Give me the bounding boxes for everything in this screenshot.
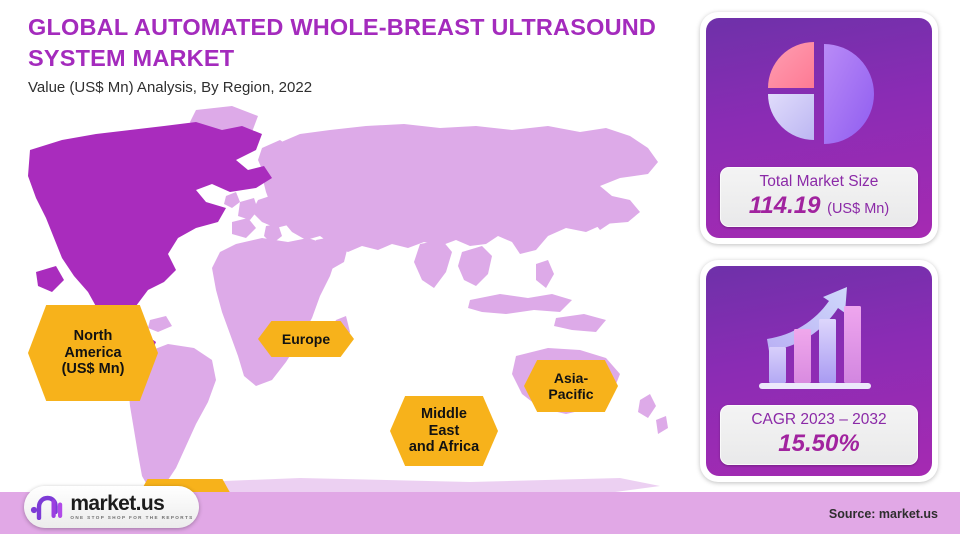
stat-value: 114.19 (US$ Mn) bbox=[724, 192, 915, 220]
region-badge-europe[interactable]: Europe bbox=[258, 321, 354, 357]
stat-card-body: Total Market Size 114.19 (US$ Mn) bbox=[706, 18, 932, 238]
stat-card-market-size: Total Market Size 114.19 (US$ Mn) bbox=[700, 12, 938, 244]
source-label: Source: market.us bbox=[829, 507, 938, 521]
world-map-svg bbox=[0, 104, 690, 494]
region-badge-label: Europe bbox=[282, 331, 330, 347]
page-title: GLOBAL AUTOMATED WHOLE-BREAST ULTRASOUND… bbox=[28, 12, 668, 73]
world-map: North America (US$ Mn) Europe Middle Eas… bbox=[0, 104, 690, 494]
stat-value: 15.50% bbox=[724, 430, 915, 458]
region-badge-label: Middle East and Africa bbox=[409, 406, 479, 456]
bar-chart-growth-icon bbox=[706, 266, 932, 405]
stat-card-label: Total Market Size 114.19 (US$ Mn) bbox=[720, 167, 919, 227]
region-badge-label: North America (US$ Mn) bbox=[62, 328, 125, 378]
stat-caption: Total Market Size bbox=[724, 172, 915, 191]
region-badge-north-america[interactable]: North America (US$ Mn) bbox=[28, 305, 158, 401]
stat-card-label: CAGR 2023 – 2032 15.50% bbox=[720, 405, 919, 465]
stat-card-body: CAGR 2023 – 2032 15.50% bbox=[706, 266, 932, 476]
pie-chart-icon bbox=[706, 18, 932, 167]
stat-card-cagr: CAGR 2023 – 2032 15.50% bbox=[700, 260, 938, 482]
region-badge-middle-east-africa[interactable]: Middle East and Africa bbox=[390, 396, 498, 466]
brand-tagline: ONE STOP SHOP FOR THE REPORTS bbox=[70, 516, 193, 521]
header: GLOBAL AUTOMATED WHOLE-BREAST ULTRASOUND… bbox=[28, 12, 668, 97]
brand-name: market.us bbox=[70, 493, 164, 514]
region-badge-asia-pacific[interactable]: Asia- Pacific bbox=[524, 360, 618, 412]
stat-unit: (US$ Mn) bbox=[827, 201, 889, 217]
page-subtitle: Value (US$ Mn) Analysis, By Region, 2022 bbox=[28, 79, 668, 97]
market-us-mark-icon bbox=[29, 494, 63, 520]
infographic-canvas: GLOBAL AUTOMATED WHOLE-BREAST ULTRASOUND… bbox=[0, 0, 960, 534]
region-badge-label: Asia- Pacific bbox=[548, 370, 593, 402]
brand-logo[interactable]: market.us ONE STOP SHOP FOR THE REPORTS bbox=[24, 486, 199, 528]
stat-caption: CAGR 2023 – 2032 bbox=[724, 410, 915, 429]
